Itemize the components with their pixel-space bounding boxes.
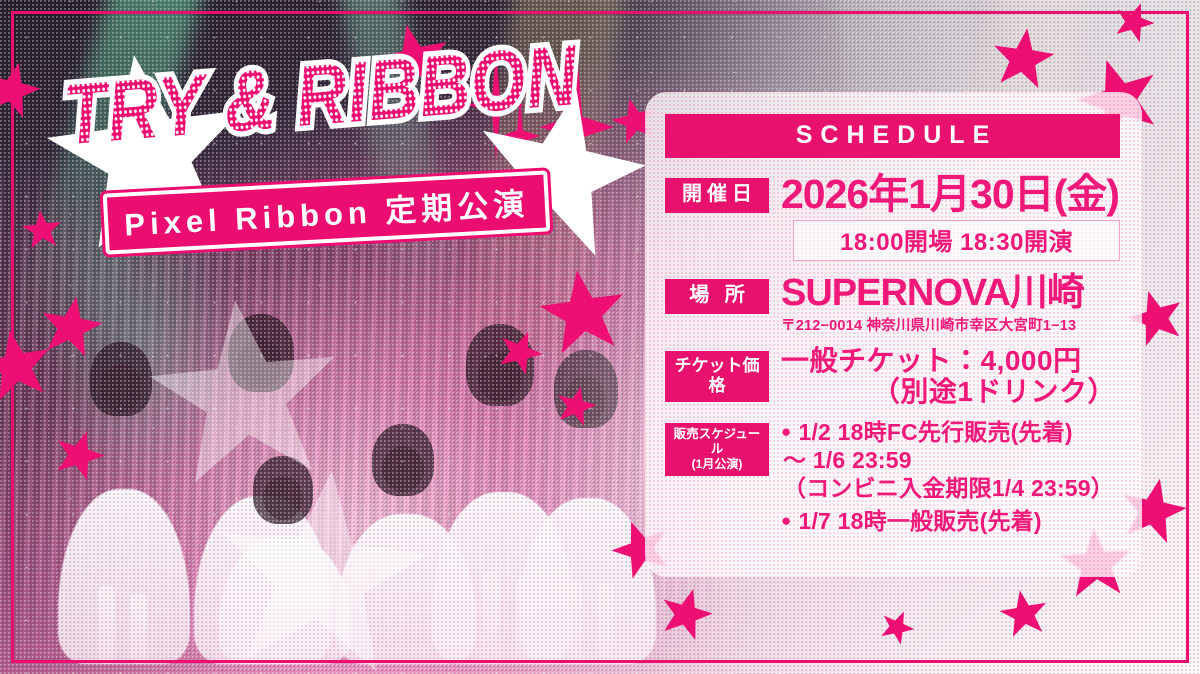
label-date: 開催日 <box>665 178 769 213</box>
list-item: 1/7 18時一般販売(先着) <box>781 508 1120 536</box>
value-venue-address: 〒212−0014 神奈川県川崎市幸区大宮町1−13 <box>781 314 1120 335</box>
event-flyer: TRY & RIBBON TRY & RIBBON Pixel Ribbon 定… <box>0 0 1200 674</box>
row-date: 開催日 2026年1月30日(金) 18:00開場 18:30開演 <box>665 174 1120 261</box>
label-ticket-price: チケット価格 <box>665 351 769 402</box>
value-venue-name: SUPERNOVA川崎 <box>781 274 1120 313</box>
row-ticket-price: チケット価格 一般チケット：4,000円 （別途1ドリンク） <box>665 345 1120 408</box>
sales-schedule-list: 1/2 18時FC先行販売(先着) 〜 1/6 23:59 （コンビニ入金期限1… <box>781 419 1120 535</box>
list-item: 〜 1/6 23:59 <box>781 447 1120 475</box>
label-sales-schedule-line1: 販売スケジュール <box>674 427 761 456</box>
value-date: 2026年1月30日(金) <box>781 174 1120 215</box>
event-logo: TRY & RIBBON TRY & RIBBON Pixel Ribbon 定… <box>58 62 618 242</box>
schedule-panel: SCHEDULE 開催日 2026年1月30日(金) 18:00開場 18:30… <box>645 92 1142 577</box>
label-sales-schedule: 販売スケジュール (1月公演) <box>665 423 769 476</box>
value-ticket-price: 一般チケット：4,000円 <box>781 345 1120 376</box>
value-doors-start-time: 18:00開場 18:30開演 <box>793 220 1120 261</box>
value-ticket-price-note: （別途1ドリンク） <box>781 376 1120 407</box>
label-venue: 場 所 <box>665 279 769 314</box>
label-sales-schedule-line2: (1月公演) <box>669 457 765 471</box>
row-sales-schedule: 販売スケジュール (1月公演) 1/2 18時FC先行販売(先着) 〜 1/6 … <box>665 419 1120 535</box>
list-item: 1/2 18時FC先行販売(先着) <box>781 419 1120 447</box>
list-item: （コンビニ入金期限1/4 23:59） <box>781 475 1120 503</box>
row-venue: 場 所 SUPERNOVA川崎 〒212−0014 神奈川県川崎市幸区大宮町1−… <box>665 274 1120 335</box>
schedule-header: SCHEDULE <box>665 114 1120 158</box>
